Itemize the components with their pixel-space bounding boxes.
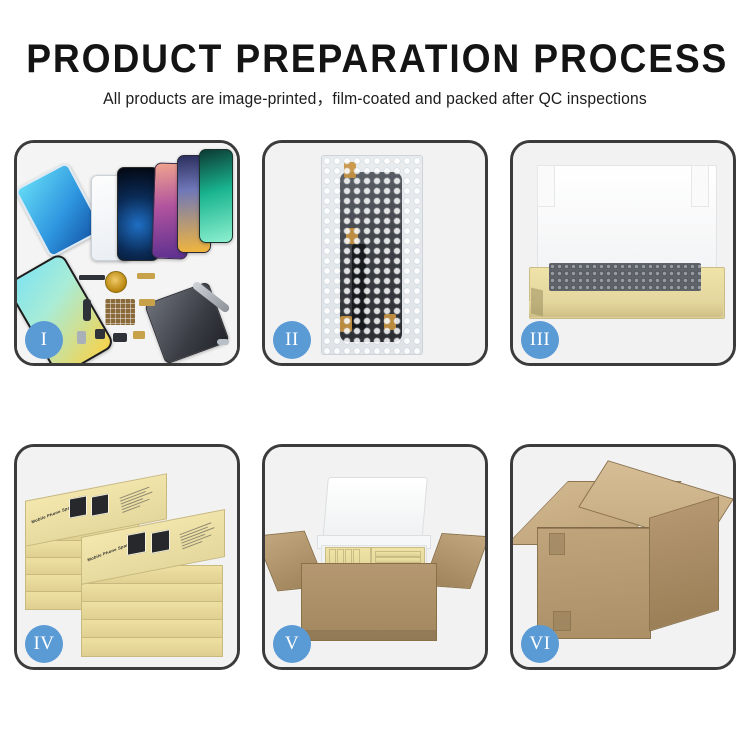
small-part-6: [113, 333, 127, 342]
process-step-panel-5: V: [262, 444, 488, 670]
product-preparation-process-page: PRODUCT PREPARATION PROCESS All products…: [0, 0, 750, 750]
page-title: PRODUCT PREPARATION PROCESS: [26, 36, 724, 82]
box-window-back-2: [91, 493, 109, 516]
page-header: PRODUCT PREPARATION PROCESS All products…: [0, 36, 750, 109]
process-step-panel-2: II: [262, 140, 488, 366]
carton-tape-lower: [553, 611, 571, 631]
carton-body: [301, 563, 437, 641]
page-subtitle: All products are image-printed，film-coat…: [19, 89, 732, 109]
small-part-4: [139, 299, 155, 306]
small-part-5: [95, 329, 105, 339]
small-part-1: [79, 275, 105, 280]
small-part-7: [77, 331, 86, 344]
box-window-back-1: [69, 495, 87, 518]
box-flap-left: [537, 165, 555, 207]
process-step-grid: I II: [14, 140, 736, 670]
connector-grid-part: [105, 299, 135, 325]
process-step-panel-4: Mobile Phone Spare Parts Mobile Phone Sp…: [14, 444, 240, 670]
bubble-wrap-bag: [321, 155, 423, 355]
small-part-2: [137, 273, 155, 279]
carton-tape-upper: [549, 533, 565, 555]
box-flap-right: [691, 165, 709, 207]
small-part-3: [83, 299, 91, 321]
foam-box-lid: [322, 477, 428, 543]
bubble-wrapped-contents: [549, 263, 701, 291]
box-window-front-1: [127, 531, 146, 556]
step-badge-6: VI: [521, 625, 559, 663]
process-step-panel-6: VI: [510, 444, 736, 670]
box-corner-notch: [531, 288, 543, 317]
carton-seam-front: [537, 527, 649, 529]
speaker-coil-part: [105, 271, 127, 293]
box-front-edge: [529, 301, 723, 317]
step-badge-5: V: [273, 625, 311, 663]
step-badge-2: II: [273, 321, 311, 359]
small-part-8: [133, 331, 145, 339]
step-badge-3: III: [521, 321, 559, 359]
screw-part: [217, 339, 229, 345]
bubble-texture: [322, 156, 422, 354]
step-badge-1: I: [25, 321, 63, 359]
box-window-front-2: [151, 529, 170, 554]
step-badge-4: IV: [25, 625, 63, 663]
foam-inner-lid: [537, 165, 717, 269]
process-step-panel-1: I: [14, 140, 240, 366]
process-step-panel-3: III: [510, 140, 736, 366]
phone-display-green: [199, 149, 233, 243]
carton-side-face: [649, 496, 719, 631]
